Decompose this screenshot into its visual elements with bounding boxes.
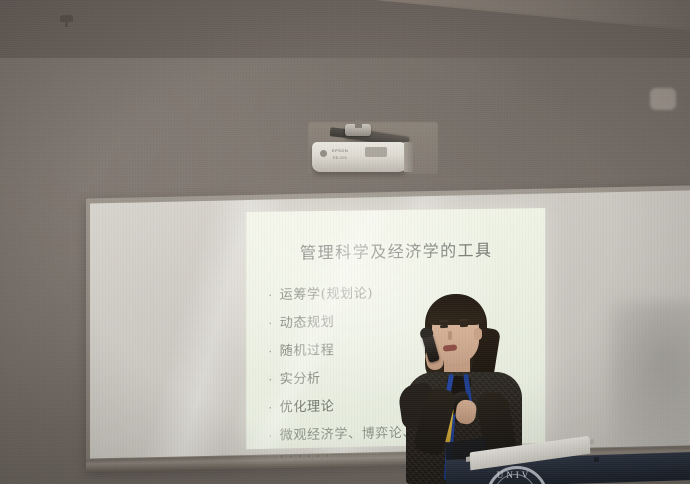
lectern-emblem-text: UNIV <box>486 470 542 480</box>
projector-body: EPSON EB-X05 <box>312 142 410 172</box>
ceiling-fixture-icon <box>60 15 73 22</box>
bullet-text: 随机过程 <box>280 339 335 359</box>
bullet-marker-icon: · <box>268 402 272 413</box>
bullet-marker-icon: · <box>268 290 272 301</box>
projector-model-label: EB-X05 <box>333 156 347 160</box>
bullet-text: 优化理论 <box>280 395 335 415</box>
bullet-marker-icon: · <box>268 346 272 357</box>
bullet-marker-icon: · <box>268 318 272 329</box>
presenter-eye-right <box>460 324 468 327</box>
bullet-text: 运筹学(规划论) <box>280 282 373 303</box>
bullet-text: ▪ ▪ ▪ ▪ ▪ ▪ <box>279 451 330 460</box>
lectern-fastener <box>594 457 599 462</box>
projector-mount-bracket <box>404 142 413 172</box>
lecture-hall-photo: EPSON EB-X05 管理科学及经济学的工具 · 运筹学(规划论) · 动态… <box>0 0 690 484</box>
wall-mark <box>650 88 676 110</box>
bullet-text: 微观经济学、博弈论、 <box>280 422 416 444</box>
bullet-text: 实分析 <box>280 367 321 387</box>
bullet-marker-icon: · <box>268 431 272 442</box>
projector-mount-post <box>355 120 362 128</box>
bullet-marker-icon: · <box>268 374 272 385</box>
projector-lens-icon <box>320 150 327 157</box>
bullet-marker-icon: · <box>268 453 272 462</box>
presenter-hair-front <box>428 298 484 325</box>
bullet-text: 动态规划 <box>280 311 335 331</box>
projector-vent-panel <box>365 147 387 157</box>
presenter-nose <box>448 331 452 340</box>
presenter-ear <box>474 328 482 340</box>
presenter-eye-left <box>440 325 448 329</box>
slide-title: 管理科学及经济学的工具 <box>246 236 545 264</box>
projector-brand-label: EPSON <box>332 148 348 153</box>
